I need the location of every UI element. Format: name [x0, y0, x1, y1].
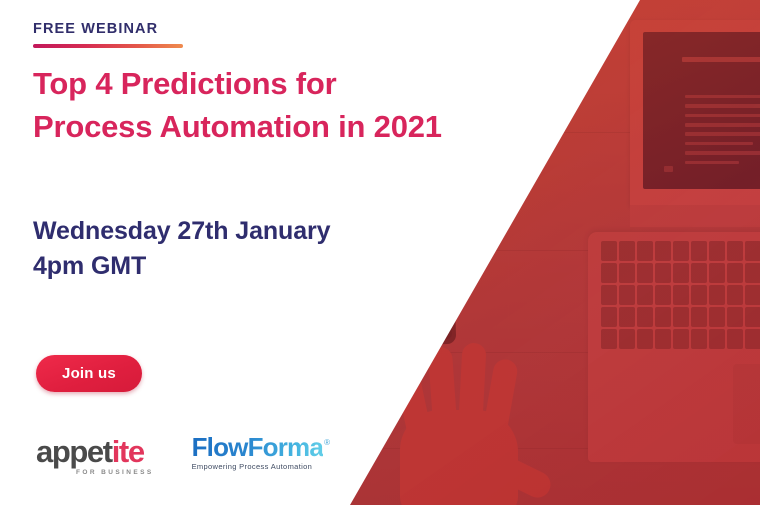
logo-row: appetite FOR BUSINESS FlowForma ® Empowe…	[36, 434, 323, 476]
flowforma-tagline: Empowering Process Automation	[192, 462, 323, 471]
join-us-button[interactable]: Join us	[36, 355, 142, 392]
eyebrow-label: FREE WEBINAR	[33, 22, 183, 37]
event-date: Wednesday 27th January	[33, 214, 330, 249]
appetite-wordmark: appetite	[36, 436, 154, 467]
page-title: Top 4 Predictions for Process Automation…	[33, 62, 503, 149]
content-column: FREE WEBINAR Top 4 Predictions for Proce…	[0, 0, 520, 505]
appetite-wordmark-dark: appet	[36, 434, 112, 469]
flowforma-logo[interactable]: FlowForma ® Empowering Process Automatio…	[192, 434, 323, 471]
event-datetime: Wednesday 27th January 4pm GMT	[33, 214, 330, 283]
event-time: 4pm GMT	[33, 249, 330, 284]
flowforma-wordmark: FlowForma	[192, 434, 323, 461]
headline-line-2: Process Automation in 2021	[33, 105, 503, 148]
eyebrow-gradient-rule	[33, 44, 183, 48]
eyebrow-group: FREE WEBINAR	[33, 22, 183, 48]
appetite-tagline: FOR BUSINESS	[76, 469, 154, 476]
appetite-wordmark-accent: ite	[112, 434, 144, 469]
webinar-promo-banner: FREE WEBINAR Top 4 Predictions for Proce…	[0, 0, 760, 505]
headline-line-1: Top 4 Predictions for	[33, 62, 503, 105]
registered-trademark-icon: ®	[324, 438, 330, 447]
appetite-logo[interactable]: appetite FOR BUSINESS	[36, 434, 154, 476]
